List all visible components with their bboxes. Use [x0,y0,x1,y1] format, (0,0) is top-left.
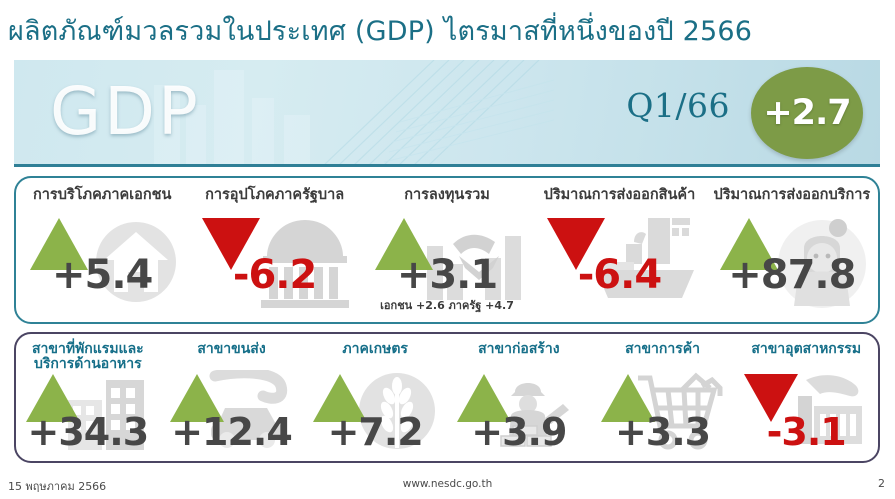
metric-trade: สาขาการค้า +3.3 [591,334,735,461]
metric-visual: +5.4 [16,212,188,322]
metric-value: -6.2 [188,254,360,296]
metric-subnote: เอกชน +2.6 ภาครัฐ +4.7 [361,296,533,314]
metric-hotels-restaurants: สาขาที่พักแรมและบริการด้านอาหาร [16,334,160,461]
metric-visual: -3.1 [734,368,878,461]
metric-label: ปริมาณการส่งออกบริการ [706,187,878,203]
footer-url[interactable]: www.nesdc.go.th [0,478,895,490]
metric-agriculture: ภาคเกษตร [303,334,447,461]
footer-page-number: 2 [878,477,885,490]
sector-row: สาขาที่พักแรมและบริการด้านอาหาร [16,334,878,461]
metric-label: การลงทุนรวม [361,187,533,203]
gdp-banner: GDP Q1/66 +2.7 [14,60,880,165]
infographic-page: ผลิตภัณฑ์มวลรวมในประเทศ (GDP) ไตรมาสที่ห… [0,0,895,499]
metric-visual: +34.3 [16,368,160,461]
metric-value: +3.1 [361,254,533,296]
metric-label: สาขาก่อสร้าง [447,342,591,357]
metric-value: +3.3 [591,411,735,453]
metric-visual: -6.2 [188,212,360,322]
metric-transport: สาขาขนส่ง +12.4 [160,334,304,461]
metric-construction: สาขาก่อสร้าง +3.9 [447,334,591,461]
page-title: ผลิตภัณฑ์มวลรวมในประเทศ (GDP) ไตรมาสที่ห… [8,10,888,54]
metric-value: +12.4 [160,411,304,453]
page-footer: 15 พฤษภาคม 2566 www.nesdc.go.th 2 [0,474,895,499]
metric-label: ภาคเกษตร [303,342,447,357]
quarter-label: Q1/66 [626,86,730,125]
metric-visual: +7.2 [303,368,447,461]
metric-government-consumption: การอุปโภคภาครัฐบาล -6.2 [188,178,360,322]
metric-label: สาขาขนส่ง [160,342,304,357]
metric-visual: +3.9 [447,368,591,461]
metric-label: การอุปโภคภาครัฐบาล [188,187,360,203]
metric-visual: +12.4 [160,368,304,461]
metric-visual: +87.8 [706,212,878,322]
gdp-headline-badge: +2.7 [751,67,863,159]
metric-label: สาขาอุตสาหกรรม [734,342,878,357]
sector-card: สาขาที่พักแรมและบริการด้านอาหาร [14,332,880,463]
metric-private-consumption: การบริโภคภาคเอกชน +5.4 [16,178,188,322]
banner-underline [14,164,880,167]
metric-visual: -6.4 [533,212,705,322]
metric-label: สาขาการค้า [591,342,735,357]
metric-label: การบริโภคภาคเอกชน [16,187,188,203]
gdp-wordmark: GDP [50,68,201,156]
metric-value: +7.2 [303,411,447,453]
metric-total-investment: การลงทุนรวม +3.1 เอกชน +2.6 ภาครัฐ +4.7 [361,178,533,322]
metric-visual: +3.1 เอกชน +2.6 ภาครัฐ +4.7 [361,212,533,322]
metric-value: +5.4 [16,254,188,296]
metric-value: +87.8 [706,254,878,296]
gdp-headline-value: +2.7 [763,93,850,133]
metric-manufacturing: สาขาอุตสาหกรรม -3.1 [734,334,878,461]
expenditure-card: การบริโภคภาคเอกชน +5.4 การอุปโภคภาครัฐบา… [14,176,880,324]
metric-value: +3.9 [447,411,591,453]
metric-services-exports: ปริมาณการส่งออกบริการ +87.8 [706,178,878,322]
metric-value: -6.4 [533,254,705,296]
metric-label: ปริมาณการส่งออกสินค้า [533,187,705,203]
metric-value: +34.3 [16,411,160,453]
expenditure-row: การบริโภคภาคเอกชน +5.4 การอุปโภคภาครัฐบา… [16,178,878,322]
metric-visual: +3.3 [591,368,735,461]
metric-goods-exports: ปริมาณการส่งออกสินค้า [533,178,705,322]
metric-value: -3.1 [734,411,878,453]
